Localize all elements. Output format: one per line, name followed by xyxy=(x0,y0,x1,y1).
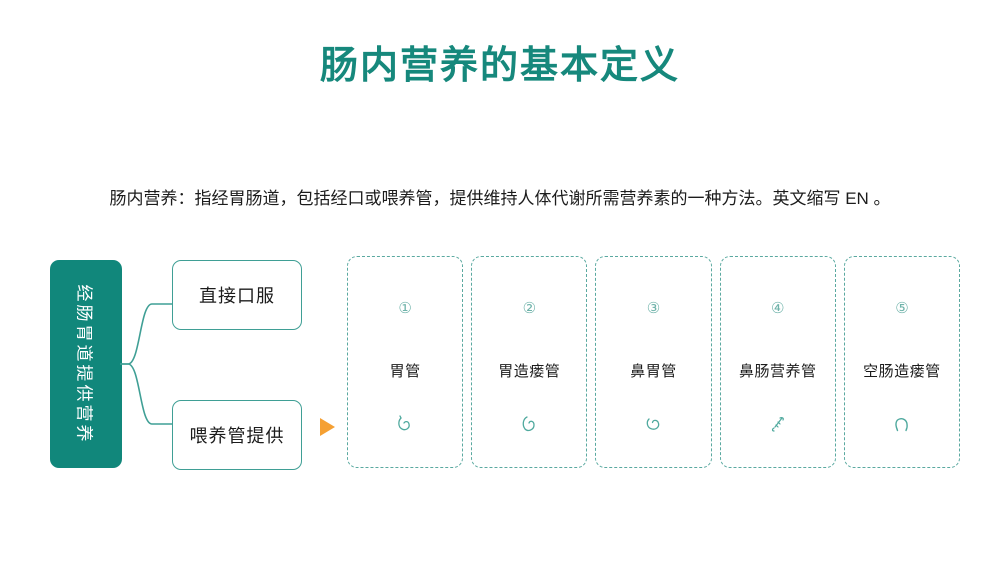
definition-paragraph: 肠内营养：指经胃肠道，包括经口或喂养管，提供维持人体代谢所需营养素的一种方法。英… xyxy=(0,186,1000,212)
card-number: ④ xyxy=(771,301,784,316)
card-gastrostomy-tube[interactable]: ② 胃造瘘管 xyxy=(471,256,587,468)
card-jejunostomy-tube[interactable]: ⑤ 空肠造瘘管 xyxy=(844,256,960,468)
triangle-right-icon xyxy=(320,418,335,436)
bracket-connector xyxy=(118,256,178,472)
card-number: ② xyxy=(523,301,536,316)
gastrostomy-icon xyxy=(518,413,540,435)
card-nasoenteric-tube[interactable]: ④ 鼻肠营养管 xyxy=(720,256,836,468)
card-gastric-tube[interactable]: ① 胃管 xyxy=(347,256,463,468)
nasogastric-icon xyxy=(643,413,665,435)
card-label: 鼻肠营养管 xyxy=(739,360,817,381)
branch-label-direct-oral: 直接口服 xyxy=(199,282,275,308)
card-label: 胃造瘘管 xyxy=(498,360,560,381)
jejunostomy-icon xyxy=(891,413,913,435)
tube-type-cards: ① 胃管 ② 胃造瘘管 ③ 鼻胃管 ④ 鼻肠营养管 xyxy=(347,256,960,468)
branch-box-feeding-tube[interactable]: 喂养管提供 xyxy=(172,400,302,470)
card-number: ⑤ xyxy=(895,301,908,316)
page-title: 肠内营养的基本定义 xyxy=(0,44,1000,90)
card-label: 空肠造瘘管 xyxy=(863,360,941,381)
card-number: ③ xyxy=(647,301,660,316)
branch-box-direct-oral[interactable]: 直接口服 xyxy=(172,260,302,330)
card-label: 胃管 xyxy=(390,360,421,381)
route-label-text: 经肠胃道提供营养 xyxy=(74,284,99,444)
route-label-box: 经肠胃道提供营养 xyxy=(50,260,122,468)
card-number: ① xyxy=(398,301,411,316)
card-nasogastric-tube[interactable]: ③ 鼻胃管 xyxy=(595,256,711,468)
card-label: 鼻胃管 xyxy=(630,360,677,381)
nasoenteric-icon xyxy=(767,413,789,435)
stomach-tube-icon xyxy=(394,413,416,435)
branch-label-feeding-tube: 喂养管提供 xyxy=(190,422,285,448)
